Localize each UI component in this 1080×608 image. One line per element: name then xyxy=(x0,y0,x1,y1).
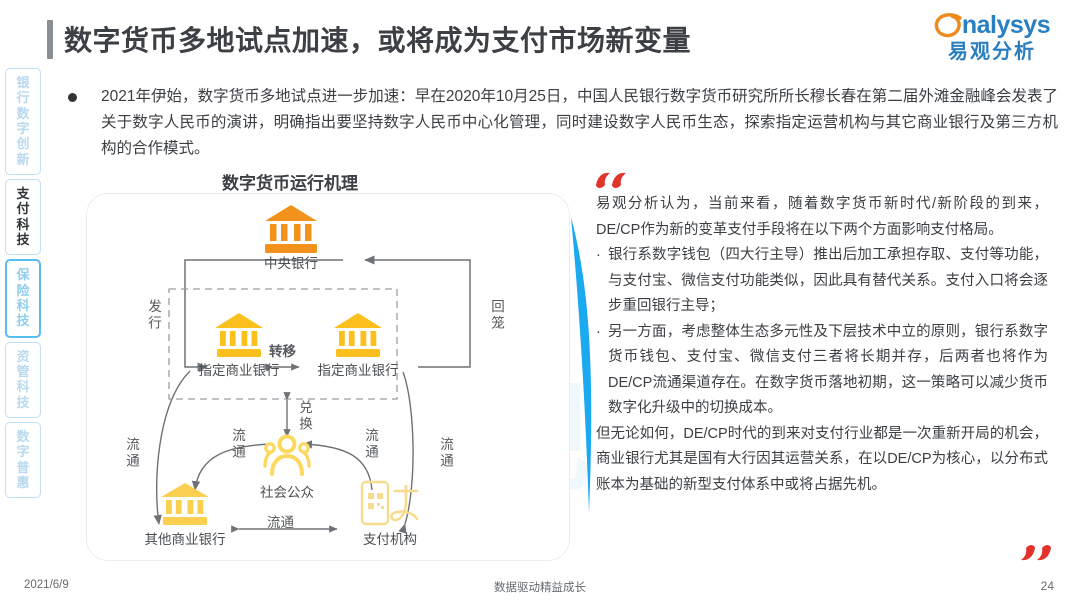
other-commercial-bank-icon xyxy=(159,482,211,526)
footer-page-number: 24 xyxy=(1041,579,1054,593)
edge-label-transfer: 转移 xyxy=(269,340,296,360)
bullet-dot-icon xyxy=(68,93,77,102)
blue-lens-divider xyxy=(567,215,599,515)
edge-label-circulate-right-outer: 流通 xyxy=(435,437,455,470)
tab-char: 惠 xyxy=(16,475,29,490)
node-label-payment-institution: 支付机构 xyxy=(363,528,417,548)
diagram-container: 中央银行 指定商业银行 指定商业银行 xyxy=(86,193,570,561)
tab-char: 创 xyxy=(16,136,29,151)
node-label-designated-bank-left: 指定商业银行 xyxy=(199,359,280,379)
tab-char: 技 xyxy=(16,395,29,410)
edge-label-issue: 发行 xyxy=(143,299,163,332)
edge-label-circulate-right-inner: 流通 xyxy=(360,428,380,461)
quote-open-icon xyxy=(595,172,629,192)
public-people-icon xyxy=(263,434,311,478)
edge-label-circulate-left-inner: 流通 xyxy=(227,428,247,461)
tab-char: 管 xyxy=(16,364,29,379)
diagram-title: 数字货币运行机理 xyxy=(0,169,580,194)
edge-label-withdraw: 回笼 xyxy=(486,299,506,332)
edge-label-exchange: 兑换 xyxy=(294,400,314,433)
intro-bullet: 2021年伊始，数字货币多地试点进一步加速：早在2020年10月25日，中国人民… xyxy=(68,84,1058,162)
tab-char: 银 xyxy=(16,75,29,90)
footer-date: 2021/6/9 xyxy=(24,579,69,591)
tab-char: 付 xyxy=(16,201,29,216)
logo-chinese: 易观分析 xyxy=(926,41,1058,63)
tab-char: 行 xyxy=(16,90,29,105)
analysis-bullet-1-text: 银行系数字钱包（四大行主导）推出后加工承担存取、支付等功能，与支付宝、微信支付功… xyxy=(608,243,1048,320)
tab-char: 数 xyxy=(16,106,29,121)
tab-char: 新 xyxy=(16,152,29,167)
analysis-panel: 易观分析认为，当前来看，随着数字货币新时代/新阶段的到来，DE/CP作为新的变革… xyxy=(596,192,1048,498)
analysis-closing: 但无论如何，DE/CP时代的到来对支付行业都是一次重新开局的机会，商业银行尤其是… xyxy=(596,422,1048,499)
tab-char: 数 xyxy=(16,429,29,444)
analysys-swirl-icon xyxy=(934,12,964,39)
designated-bank-right-icon xyxy=(332,312,384,358)
sidebar-item-bank-digital-innovation[interactable]: 银 行 数 字 创 新 xyxy=(5,68,41,175)
slide: a 易观 数字货币多地试点加速，或将成为支付市场新变量 nalysys 易观分析… xyxy=(0,0,1080,608)
node-label-central-bank: 中央银行 xyxy=(264,252,318,272)
analysis-bullet-1: · 银行系数字钱包（四大行主导）推出后加工承担存取、支付等功能，与支付宝、微信支… xyxy=(596,243,1048,320)
tab-char: 科 xyxy=(16,379,29,394)
sidebar-item-insurance-tech[interactable]: 保 险 科 技 xyxy=(5,259,41,337)
tab-char: 科 xyxy=(16,217,29,232)
analysis-intro: 易观分析认为，当前来看，随着数字货币新时代/新阶段的到来，DE/CP作为新的变革… xyxy=(596,192,1048,243)
analysis-bullet-2: · 另一方面，考虑整体生态多元性及下层技术中立的原则，银行系数字货币钱包、支付宝… xyxy=(596,320,1048,422)
node-label-other-commercial-bank: 其他商业银行 xyxy=(145,528,226,548)
list-bullet-marker: · xyxy=(596,243,608,320)
tab-char: 普 xyxy=(16,460,29,475)
intro-bullet-text: 2021年伊始，数字货币多地试点进一步加速：早在2020年10月25日，中国人民… xyxy=(101,84,1058,162)
tab-char: 技 xyxy=(16,232,29,247)
node-label-designated-bank-right: 指定商业银行 xyxy=(318,359,399,379)
edge-label-circulate-bottom: 流通 xyxy=(267,511,294,531)
footer-tagline: 数据驱动精益成长 xyxy=(0,579,1080,595)
page-title-bar: 数字货币多地试点加速，或将成为支付市场新变量 xyxy=(47,19,691,59)
footer: 数据驱动精益成长 2021/6/9 24 xyxy=(0,579,1080,595)
tab-char: 资 xyxy=(16,349,29,364)
designated-bank-left-icon xyxy=(213,312,265,358)
payment-institution-icon xyxy=(359,479,421,527)
analysis-bullet-2-text: 另一方面，考虑整体生态多元性及下层技术中立的原则，银行系数字货币钱包、支付宝、微… xyxy=(608,320,1048,422)
tab-char: 字 xyxy=(16,121,29,136)
tab-char: 科 xyxy=(16,298,29,313)
tab-char: 险 xyxy=(16,283,29,298)
node-label-public: 社会公众 xyxy=(260,481,314,501)
brand-logo: nalysys 易观分析 xyxy=(926,10,1058,63)
tab-char: 技 xyxy=(16,313,29,328)
central-bank-icon xyxy=(263,204,319,254)
logo-wordmark: nalysys xyxy=(962,13,1050,38)
title-accent-bar xyxy=(47,20,53,59)
quote-close-icon xyxy=(1020,541,1054,561)
tab-char: 字 xyxy=(16,444,29,459)
sidebar-item-digital-inclusive-finance[interactable]: 数 字 普 惠 xyxy=(5,422,41,498)
sidebar-item-asset-management-tech[interactable]: 资 管 科 技 xyxy=(5,342,41,418)
edge-label-circulate-left-outer: 流通 xyxy=(121,437,141,470)
tab-char: 保 xyxy=(16,267,29,282)
page-title: 数字货币多地试点加速，或将成为支付市场新变量 xyxy=(64,19,691,59)
sidebar: 银 行 数 字 创 新 支 付 科 技 保 险 科 技 资 管 科 技 数 字 xyxy=(5,68,41,502)
list-bullet-marker: · xyxy=(596,320,608,422)
